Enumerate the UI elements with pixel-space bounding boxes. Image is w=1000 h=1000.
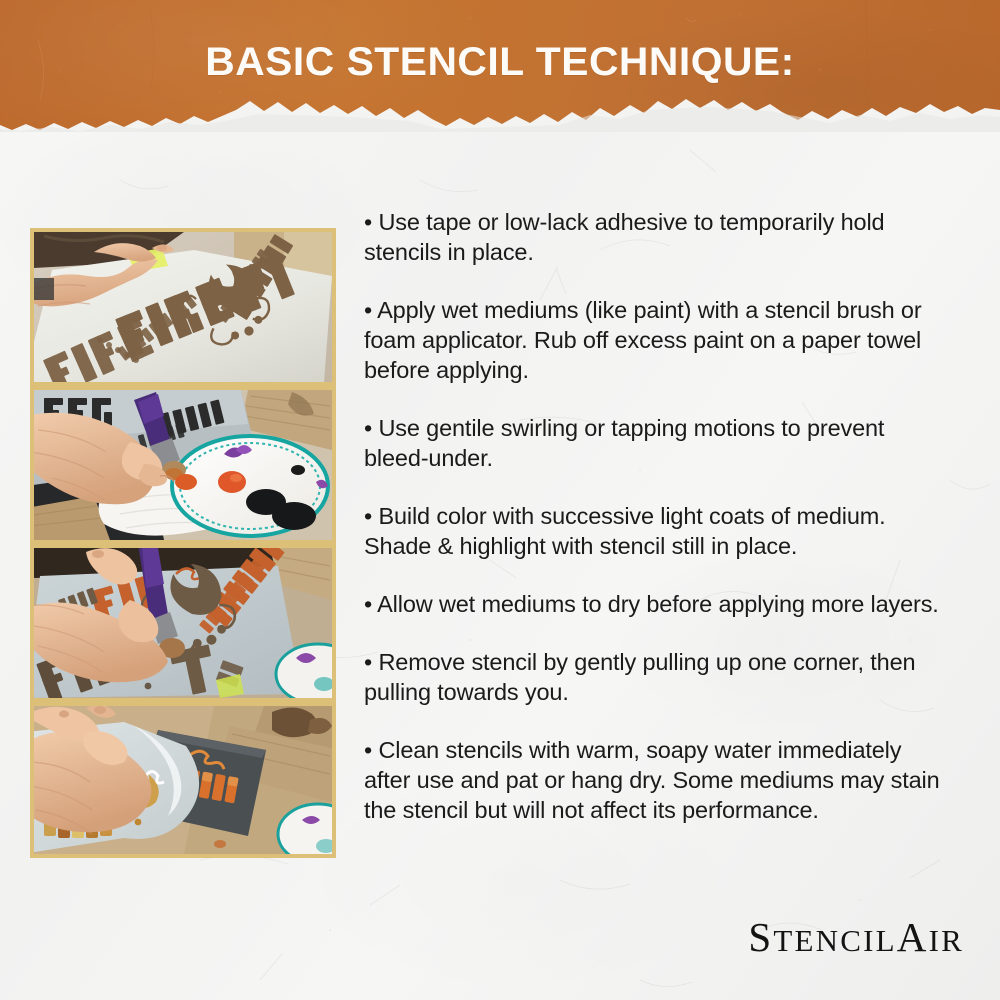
instruction-item-6: • Remove stencil by gently pulling up on…: [364, 647, 952, 707]
photo-step-1[interactable]: [30, 228, 336, 386]
header-banner: BASIC STENCIL TECHNIQUE:: [0, 0, 1000, 132]
photo-step-2-image: [34, 390, 332, 540]
torn-paper-edge: [0, 86, 1000, 132]
instruction-item-4: • Build color with successive light coat…: [364, 501, 952, 561]
instruction-item-2: • Apply wet mediums (like paint) with a …: [364, 295, 952, 385]
brand-logo-initial: S: [748, 914, 773, 960]
brand-logo-tail: IR: [929, 923, 964, 958]
photo-step-3-image: [34, 548, 332, 698]
photo-step-3[interactable]: [30, 544, 336, 702]
photo-step-1-image: [34, 232, 332, 382]
brand-logo: STENCILAIR: [748, 917, 964, 958]
photo-gallery: [30, 228, 336, 858]
brand-logo-body: TENCIL: [773, 923, 896, 958]
page-title: BASIC STENCIL TECHNIQUE:: [0, 40, 1000, 85]
photo-step-4[interactable]: [30, 702, 336, 858]
instruction-item-1: • Use tape or low-lack adhesive to tempo…: [364, 207, 952, 267]
instructions-list: • Use tape or low-lack adhesive to tempo…: [364, 207, 952, 825]
brand-logo-a: A: [897, 914, 929, 960]
photo-step-4-image: [34, 706, 332, 854]
poster-root: BASIC STENCIL TECHNIQUE:: [0, 0, 1000, 1000]
instruction-item-7: • Clean stencils with warm, soapy water …: [364, 735, 952, 825]
instruction-item-5: • Allow wet mediums to dry before applyi…: [364, 589, 952, 619]
photo-step-2[interactable]: [30, 386, 336, 544]
instruction-item-3: • Use gentile swirling or tapping motion…: [364, 413, 952, 473]
